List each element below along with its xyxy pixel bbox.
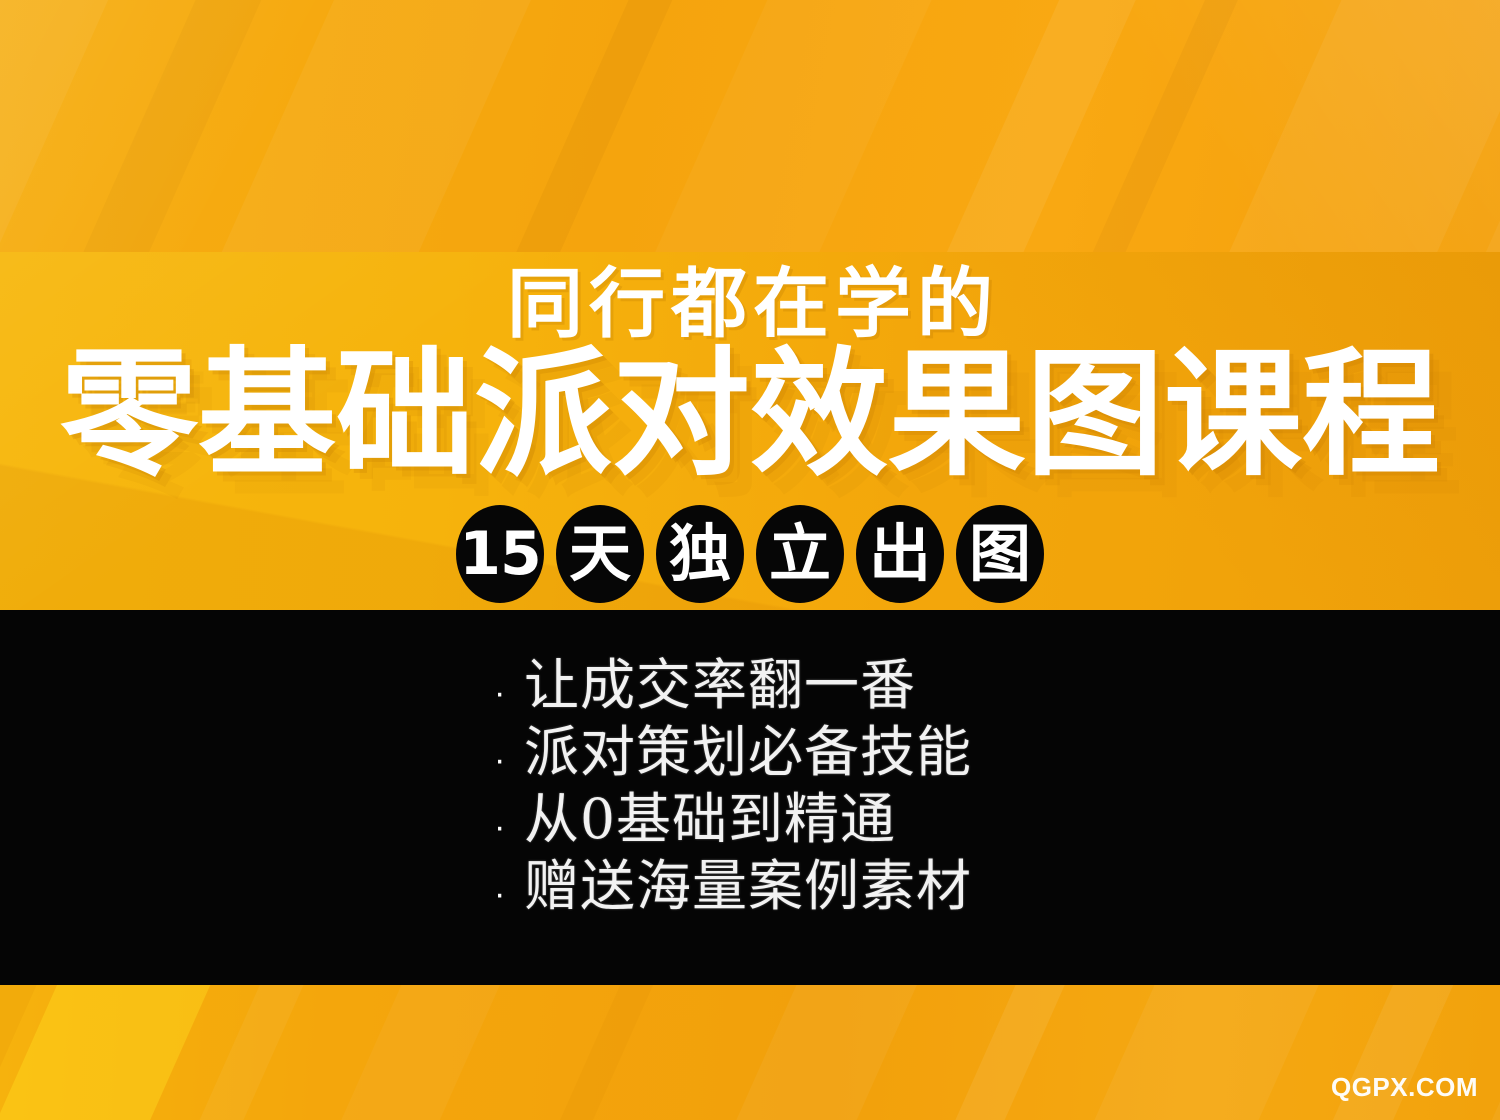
corner-wedge-top-right: [980, 0, 1500, 252]
badge-item: 图: [956, 505, 1044, 603]
list-item-label: 从0基础到精通: [524, 789, 896, 849]
list-item: ·赠送海量案例素材: [494, 856, 1134, 923]
list-item: ·派对策划必备技能: [494, 722, 1134, 789]
badge-item: 出: [856, 505, 944, 603]
watermark-label: QGPX.COM: [1331, 1072, 1478, 1102]
list-item: ·让成交率翻一番: [494, 655, 1134, 722]
list-item-label: 派对策划必备技能: [524, 722, 972, 782]
feature-bullet-list: ·让成交率翻一番·派对策划必备技能·从0基础到精通·赠送海量案例素材: [494, 655, 1134, 923]
bullet-dot-icon: ·: [494, 810, 524, 844]
bullet-dot-icon: ·: [494, 676, 524, 710]
list-item-label: 让成交率翻一番: [524, 655, 916, 715]
bullet-dot-icon: ·: [494, 877, 524, 911]
list-item: ·从0基础到精通: [494, 789, 1134, 856]
badge-row: 15天独立出图: [0, 505, 1500, 603]
page-title: 零基础派对效果图课程: [0, 340, 1500, 490]
diagonal-stripes-top: [0, 0, 1500, 252]
list-item-label: 赠送海量案例素材: [524, 856, 972, 916]
background-band-top: [0, 0, 1500, 252]
background-band-bottom: [0, 985, 1500, 1120]
diagonal-stripes-bottom: [0, 985, 1500, 1120]
badge-item: 独: [656, 505, 744, 603]
badge-item: 立: [756, 505, 844, 603]
bullet-dot-icon: ·: [494, 743, 524, 777]
poster-canvas: 同行都在学的 零基础派对效果图课程 15天独立出图 ·让成交率翻一番·派对策划必…: [0, 0, 1500, 1120]
badge-item: 15: [456, 505, 544, 603]
corner-wedge-top-left: [0, 0, 420, 252]
badge-item: 天: [556, 505, 644, 603]
